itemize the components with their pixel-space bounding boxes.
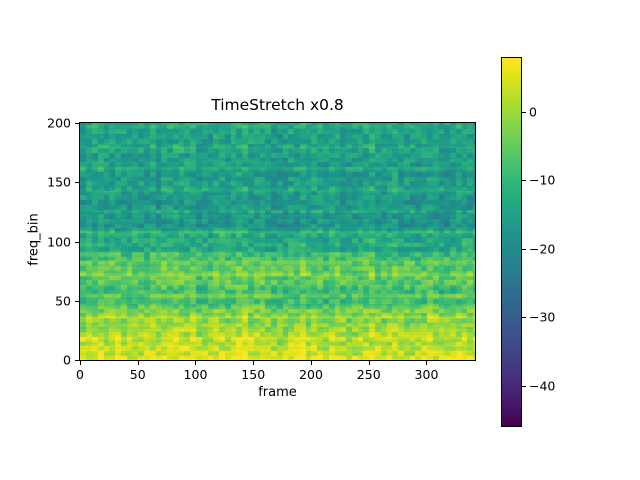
y-tick-mark [75, 123, 79, 124]
colorbar-tick-mark [522, 386, 526, 387]
x-tick-label: 0 [76, 367, 84, 382]
y-tick-label: 100 [35, 234, 71, 249]
colorbar-tick-mark [522, 112, 526, 113]
x-tick-label: 150 [241, 367, 265, 382]
colorbar-tick-label: −30 [529, 310, 555, 325]
x-tick-label: 200 [299, 367, 323, 382]
x-tick-mark [369, 361, 370, 365]
page-title: TimeStretch x0.8 [79, 96, 476, 114]
colorbar-tick-label: −40 [529, 378, 555, 393]
colorbar-tick-mark [522, 317, 526, 318]
x-tick-mark [80, 361, 81, 365]
x-tick-label: 300 [415, 367, 439, 382]
spectrogram-heatmap [80, 123, 475, 360]
x-axis-label: frame [79, 385, 476, 400]
y-tick-mark [75, 360, 79, 361]
x-tick-mark [253, 361, 254, 365]
x-tick-label: 50 [130, 367, 146, 382]
x-tick-label: 250 [357, 367, 381, 382]
y-tick-mark [75, 182, 79, 183]
x-tick-mark [138, 361, 139, 365]
x-tick-label: 100 [184, 367, 208, 382]
x-tick-mark [195, 361, 196, 365]
colorbar-tick-label: 0 [529, 104, 537, 119]
matplotlib-figure: TimeStretch x0.8 frame freq_bin 05010015… [0, 0, 640, 480]
colorbar-tick-label: −10 [529, 173, 555, 188]
colorbar [501, 57, 522, 427]
colorbar-tick-label: −20 [529, 241, 555, 256]
x-tick-mark [311, 361, 312, 365]
y-tick-label: 200 [35, 116, 71, 131]
y-tick-label: 150 [35, 175, 71, 190]
x-tick-mark [426, 361, 427, 365]
colorbar-gradient [502, 58, 521, 426]
spectrogram-axes [79, 122, 476, 361]
y-tick-label: 0 [35, 353, 71, 368]
y-tick-mark [75, 301, 79, 302]
y-tick-mark [75, 242, 79, 243]
colorbar-tick-mark [522, 180, 526, 181]
colorbar-tick-mark [522, 249, 526, 250]
y-tick-label: 50 [35, 293, 71, 308]
